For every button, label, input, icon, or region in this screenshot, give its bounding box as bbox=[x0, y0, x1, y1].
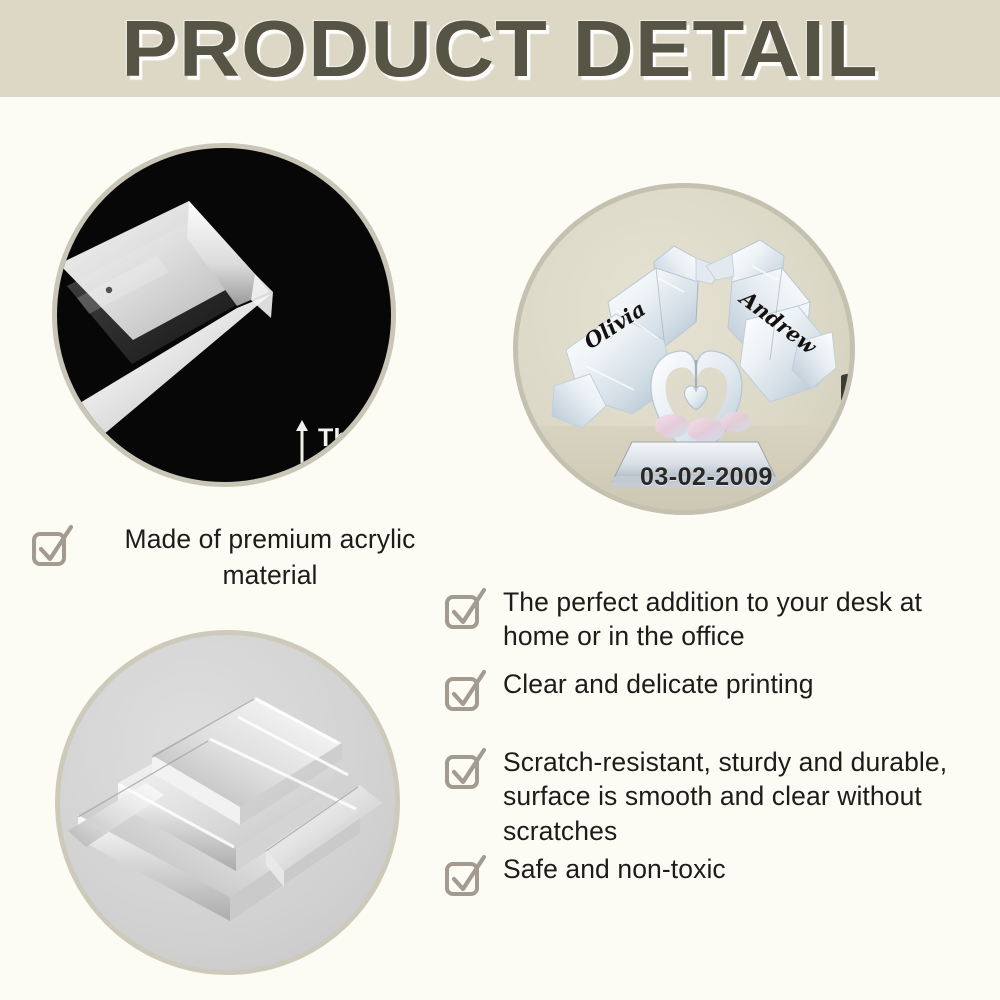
product-detail-infographic: PRODUCT DETAIL bbox=[0, 0, 1000, 1000]
feature-item-printing: Clear and delicate printing bbox=[443, 667, 988, 713]
thickness-value: 0.55 in bbox=[318, 453, 396, 482]
feature-label: Safe and non-toxic bbox=[503, 852, 726, 888]
crystal-doves-figurine-photo: Olivia Andrew 03-02-2009 bbox=[513, 183, 855, 515]
stacked-acrylic-sheets-photo bbox=[55, 630, 400, 975]
checkbox-checked-icon bbox=[443, 587, 487, 631]
feature-label: The perfect addition to your desk at hom… bbox=[503, 585, 988, 654]
figurine-base bbox=[610, 436, 780, 496]
checkbox-checked-icon bbox=[30, 524, 74, 568]
feature-item-safe-non-toxic: Safe and non-toxic bbox=[443, 852, 988, 898]
vertical-double-arrow-icon bbox=[295, 420, 309, 486]
photo-edge-artifact bbox=[841, 373, 852, 401]
acrylic-sheets-illustration bbox=[60, 635, 395, 970]
thickness-label: Thickness bbox=[318, 424, 396, 453]
checkbox-checked-icon bbox=[443, 854, 487, 898]
feature-label: Made of premium acrylic material bbox=[90, 522, 450, 593]
thickness-callout: Thickness 0.55 in bbox=[295, 420, 396, 486]
page-title: PRODUCT DETAIL bbox=[0, 0, 1000, 97]
feature-label: Scratch-resistant, sturdy and durable, s… bbox=[503, 745, 988, 848]
thickness-callout-text: Thickness 0.55 in bbox=[318, 424, 396, 482]
checkbox-checked-icon bbox=[443, 669, 487, 713]
feature-item-acrylic: Made of premium acrylic material bbox=[30, 522, 460, 593]
feature-item-scratch-resistant: Scratch-resistant, sturdy and durable, s… bbox=[443, 745, 988, 848]
checkbox-checked-icon bbox=[443, 747, 487, 791]
feature-item-desk: The perfect addition to your desk at hom… bbox=[443, 585, 988, 654]
acrylic-edge-thickness-photo: Thickness 0.55 in bbox=[52, 143, 396, 487]
feature-label: Clear and delicate printing bbox=[503, 667, 814, 703]
